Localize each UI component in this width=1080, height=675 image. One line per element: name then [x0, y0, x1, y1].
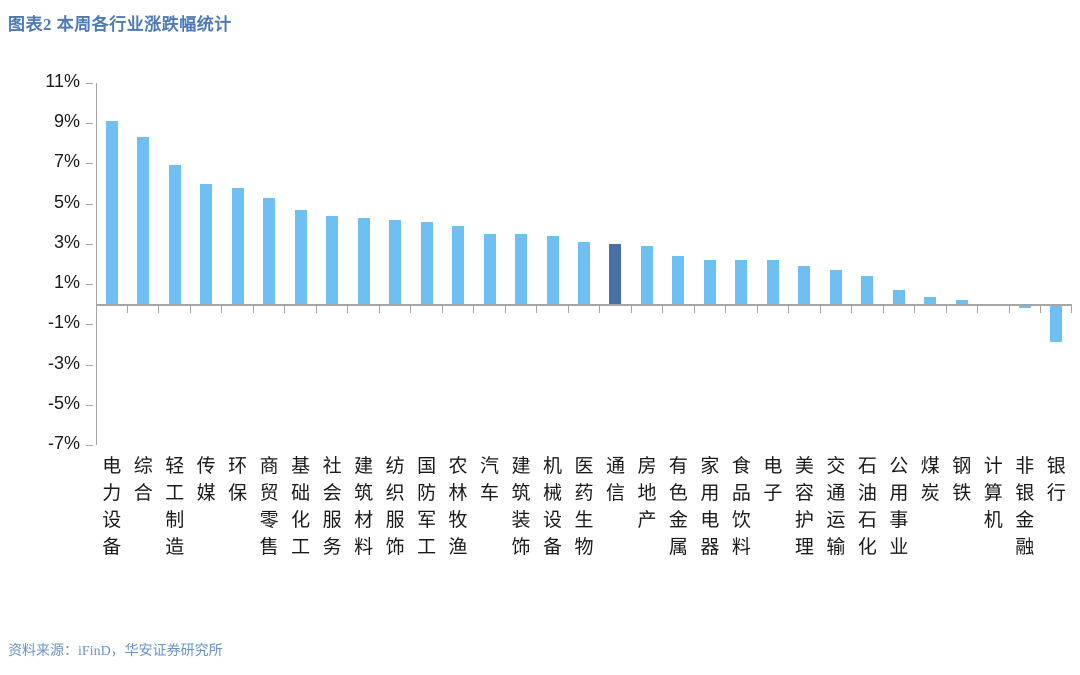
bar-slot[interactable] — [379, 83, 410, 445]
x-axis-label-char: 农 — [445, 453, 471, 480]
x-axis-label-char: 车 — [477, 480, 503, 507]
x-axis-label: 轻工制造 — [162, 453, 188, 561]
x-axis-label: 美容护理 — [791, 453, 817, 561]
x-axis-label: 通信 — [602, 453, 628, 507]
bar[interactable] — [767, 260, 779, 304]
x-axis-label-char: 造 — [162, 534, 188, 561]
x-axis-label-char: 合 — [130, 480, 156, 507]
x-axis-label-char: 食 — [728, 453, 754, 480]
x-axis-label-char: 机 — [540, 453, 566, 480]
bar[interactable] — [704, 260, 716, 304]
x-axis-label-char: 电 — [99, 453, 125, 480]
y-axis-tick-mark — [86, 83, 93, 84]
bar-slot[interactable] — [316, 83, 347, 445]
x-axis-label: 社会服务 — [319, 453, 345, 561]
bar-slot[interactable] — [253, 83, 284, 445]
x-axis-label-char: 材 — [351, 507, 377, 534]
bar[interactable] — [137, 137, 149, 304]
bar-slot[interactable] — [915, 83, 946, 445]
x-axis-label-char: 工 — [162, 480, 188, 507]
x-axis-label-char: 石 — [854, 507, 880, 534]
y-axis-tick-mark — [86, 244, 93, 245]
x-axis-label: 钢铁 — [949, 453, 975, 507]
bar-slot[interactable] — [537, 83, 568, 445]
x-axis-label-char: 工 — [414, 534, 440, 561]
x-axis-label-char: 炭 — [917, 480, 943, 507]
x-axis-label-char: 料 — [351, 534, 377, 561]
x-axis-label: 交通运输 — [823, 453, 849, 561]
bar-slot[interactable] — [1041, 83, 1072, 445]
bar-series — [96, 83, 1072, 445]
x-axis-label-char: 服 — [319, 507, 345, 534]
y-axis-tick-mark — [86, 284, 93, 285]
bar-slot[interactable] — [852, 83, 883, 445]
x-axis-label-char: 算 — [980, 480, 1006, 507]
x-axis-label-char: 国 — [414, 453, 440, 480]
x-axis-label-char: 军 — [414, 507, 440, 534]
x-axis-label-char: 油 — [854, 480, 880, 507]
source-note: 资料来源：iFinD，华安证券研究所 — [8, 640, 223, 660]
bar[interactable] — [893, 290, 905, 304]
x-axis-label-char: 金 — [1012, 507, 1038, 534]
x-axis-label-char: 属 — [665, 534, 691, 561]
x-axis-label-char: 交 — [823, 453, 849, 480]
x-axis-label-char: 工 — [288, 534, 314, 561]
x-axis-label-char: 筑 — [508, 480, 534, 507]
x-axis-label-char: 药 — [571, 480, 597, 507]
bar-slot[interactable] — [127, 83, 158, 445]
x-axis-label-char: 饰 — [508, 534, 534, 561]
x-axis-label: 电力设备 — [99, 453, 125, 561]
x-axis-label: 非银金融 — [1012, 453, 1038, 561]
x-axis-label-char: 行 — [1043, 480, 1069, 507]
bar-slot[interactable] — [190, 83, 221, 445]
x-axis-label-char: 媒 — [193, 480, 219, 507]
bar[interactable] — [452, 226, 464, 304]
x-axis-label-char: 事 — [886, 507, 912, 534]
bar-slot[interactable] — [757, 83, 788, 445]
x-axis-label-char: 装 — [508, 507, 534, 534]
x-axis-label: 有色金属 — [665, 453, 691, 561]
y-axis-tick-mark — [86, 445, 93, 446]
x-axis-label-char: 料 — [728, 534, 754, 561]
bar-slot[interactable] — [663, 83, 694, 445]
bar[interactable] — [358, 218, 370, 304]
x-axis-label: 建筑装饰 — [508, 453, 534, 561]
x-axis-label-char: 信 — [602, 480, 628, 507]
bar[interactable] — [609, 244, 621, 304]
x-axis-label-char: 色 — [665, 480, 691, 507]
bar-slot[interactable] — [348, 83, 379, 445]
x-axis-label-char: 建 — [351, 453, 377, 480]
x-axis-label-char: 美 — [791, 453, 817, 480]
x-axis-label-char: 综 — [130, 453, 156, 480]
bar[interactable] — [830, 270, 842, 304]
x-axis-label-char: 家 — [697, 453, 723, 480]
x-axis-label-char: 铁 — [949, 480, 975, 507]
bar-slot[interactable] — [568, 83, 599, 445]
zero-baseline — [96, 304, 1072, 306]
y-axis-tick-label: -1% — [48, 312, 80, 333]
x-axis-label: 纺织服饰 — [382, 453, 408, 561]
x-axis-label-char: 护 — [791, 507, 817, 534]
bar-slot[interactable] — [789, 83, 820, 445]
x-axis-label-char: 备 — [99, 534, 125, 561]
x-axis-label-char: 渔 — [445, 534, 471, 561]
bar[interactable] — [861, 276, 873, 304]
x-axis-label-char: 电 — [760, 453, 786, 480]
x-axis-label-char: 地 — [634, 480, 660, 507]
x-axis-label: 公用事业 — [886, 453, 912, 561]
bar-slot[interactable] — [505, 83, 536, 445]
x-axis-label-char: 子 — [760, 480, 786, 507]
x-axis-label-char: 保 — [225, 480, 251, 507]
x-axis-label-char: 设 — [540, 507, 566, 534]
x-axis-label-char: 设 — [99, 507, 125, 534]
x-axis-label-char: 纺 — [382, 453, 408, 480]
plot-area — [96, 83, 1072, 445]
x-axis-label-char: 医 — [571, 453, 597, 480]
bar[interactable] — [295, 210, 307, 305]
x-axis-label: 环保 — [225, 453, 251, 507]
bar-slot[interactable] — [820, 83, 851, 445]
y-axis-tick-label: 11% — [45, 71, 80, 92]
x-axis-label-char: 饰 — [382, 534, 408, 561]
x-axis-label-char: 用 — [697, 480, 723, 507]
x-axis-label-char: 电 — [697, 507, 723, 534]
x-axis-label: 建筑材料 — [351, 453, 377, 561]
y-axis-tick-mark — [86, 163, 93, 164]
x-axis-label-char: 业 — [886, 534, 912, 561]
x-axis-label: 综合 — [130, 453, 156, 507]
x-axis-label-char: 轻 — [162, 453, 188, 480]
y-axis-tick-label: 5% — [54, 192, 80, 213]
x-axis-label-char: 传 — [193, 453, 219, 480]
bar[interactable] — [263, 198, 275, 305]
x-axis-label: 食品饮料 — [728, 453, 754, 561]
x-axis-label-char: 物 — [571, 534, 597, 561]
bar-slot[interactable] — [883, 83, 914, 445]
bar-slot[interactable] — [978, 83, 1009, 445]
x-axis-label-char: 饮 — [728, 507, 754, 534]
x-axis-label-char: 银 — [1043, 453, 1069, 480]
x-axis-label-char: 商 — [256, 453, 282, 480]
x-axis-label-char: 械 — [540, 480, 566, 507]
x-axis-label-char: 力 — [99, 480, 125, 507]
x-axis-label-char: 产 — [634, 507, 660, 534]
y-axis-tick-label: -7% — [48, 433, 80, 454]
x-axis-label-char: 用 — [886, 480, 912, 507]
y-axis-tick-mark — [86, 365, 93, 366]
y-axis-tick-label: -5% — [48, 393, 80, 414]
x-axis-label-char: 石 — [854, 453, 880, 480]
x-axis-label: 银行 — [1043, 453, 1069, 507]
x-axis-label-char: 基 — [288, 453, 314, 480]
x-axis-label: 农林牧渔 — [445, 453, 471, 561]
bar-slot[interactable] — [159, 83, 190, 445]
bar-slot[interactable] — [600, 83, 631, 445]
x-axis-label-char: 社 — [319, 453, 345, 480]
bar-chart: 11%9%7%5%3%1%-1%-3%-5%-7% 电力设备综合轻工制造传媒环保… — [0, 55, 1080, 625]
x-axis-label-char: 售 — [256, 534, 282, 561]
bar-slot[interactable] — [946, 83, 977, 445]
x-axis-label: 传媒 — [193, 453, 219, 507]
bar-slot[interactable] — [442, 83, 473, 445]
page-title: 图表2 本周各行业涨跌幅统计 — [8, 10, 232, 35]
bar[interactable] — [578, 242, 590, 304]
x-axis-label-char: 林 — [445, 480, 471, 507]
x-axis-tick-mark — [1071, 306, 1072, 313]
x-axis-label-char: 汽 — [477, 453, 503, 480]
x-axis-label-char: 制 — [162, 507, 188, 534]
bar-slot[interactable] — [474, 83, 505, 445]
bar[interactable] — [672, 256, 684, 304]
x-axis-label-char: 通 — [602, 453, 628, 480]
x-axis-label-char: 公 — [886, 453, 912, 480]
x-axis-label-char: 融 — [1012, 534, 1038, 561]
x-axis-label: 机械设备 — [540, 453, 566, 561]
x-axis-label: 医药生物 — [571, 453, 597, 561]
bar[interactable] — [484, 234, 496, 304]
bar[interactable] — [421, 222, 433, 304]
x-axis-label-char: 房 — [634, 453, 660, 480]
bar-slot[interactable] — [411, 83, 442, 445]
x-axis-label-char: 环 — [225, 453, 251, 480]
y-axis-tick-mark — [86, 405, 93, 406]
x-axis-label-char: 防 — [414, 480, 440, 507]
y-axis-tick-label: 7% — [54, 151, 80, 172]
bar[interactable] — [515, 234, 527, 304]
x-axis-label-char: 服 — [382, 507, 408, 534]
x-axis-label: 基础化工 — [288, 453, 314, 561]
x-axis-label-char: 牧 — [445, 507, 471, 534]
bar-slot[interactable] — [631, 83, 662, 445]
y-axis-tick-mark — [86, 204, 93, 205]
x-axis-label: 计算机 — [980, 453, 1006, 534]
bar[interactable] — [641, 246, 653, 304]
bar[interactable] — [326, 216, 338, 304]
x-axis-label-char: 会 — [319, 480, 345, 507]
x-axis-label-char: 零 — [256, 507, 282, 534]
bar-slot[interactable] — [222, 83, 253, 445]
x-axis-label: 汽车 — [477, 453, 503, 507]
x-axis-label-char: 运 — [823, 507, 849, 534]
y-axis-tick-label: -3% — [48, 353, 80, 374]
x-axis-label: 煤炭 — [917, 453, 943, 507]
x-axis-label-char: 煤 — [917, 453, 943, 480]
x-axis-label-char: 织 — [382, 480, 408, 507]
x-axis-label-char: 非 — [1012, 453, 1038, 480]
x-axis-label-char: 银 — [1012, 480, 1038, 507]
x-axis-label-char: 建 — [508, 453, 534, 480]
y-axis-tick-mark — [86, 324, 93, 325]
x-axis-label-char: 筑 — [351, 480, 377, 507]
x-axis-label-char: 金 — [665, 507, 691, 534]
y-axis-tick-label: 1% — [54, 272, 80, 293]
x-axis-label-char: 容 — [791, 480, 817, 507]
x-axis-label-char: 钢 — [949, 453, 975, 480]
bar-slot[interactable] — [726, 83, 757, 445]
bar[interactable] — [232, 188, 244, 305]
bar-slot[interactable] — [1009, 83, 1040, 445]
bar[interactable] — [389, 220, 401, 304]
x-axis-label-char: 计 — [980, 453, 1006, 480]
bar-slot[interactable] — [694, 83, 725, 445]
x-axis-label-char: 品 — [728, 480, 754, 507]
bar[interactable] — [547, 236, 559, 304]
x-axis-label-char: 备 — [540, 534, 566, 561]
bar[interactable] — [798, 266, 810, 304]
x-axis-label: 石油石化 — [854, 453, 880, 561]
y-axis-tick-label: 9% — [54, 111, 80, 132]
x-axis-label-char: 础 — [288, 480, 314, 507]
x-axis-label: 房地产 — [634, 453, 660, 534]
x-axis-label: 电子 — [760, 453, 786, 507]
x-axis-label-char: 生 — [571, 507, 597, 534]
x-axis-label: 家用电器 — [697, 453, 723, 561]
x-axis-label-char: 有 — [665, 453, 691, 480]
x-axis-labels: 电力设备综合轻工制造传媒环保商贸零售基础化工社会服务建筑材料纺织服饰国防军工农林… — [96, 453, 1072, 613]
x-axis-label-char: 贸 — [256, 480, 282, 507]
bar[interactable] — [200, 184, 212, 305]
x-axis-label-char: 理 — [791, 534, 817, 561]
bar-slot[interactable] — [96, 83, 127, 445]
x-axis-label-char: 机 — [980, 507, 1006, 534]
bar[interactable] — [169, 165, 181, 304]
bar[interactable] — [106, 121, 118, 304]
bar[interactable] — [735, 260, 747, 304]
x-axis-label: 国防军工 — [414, 453, 440, 561]
x-axis-label-char: 务 — [319, 534, 345, 561]
x-axis-label-char: 通 — [823, 480, 849, 507]
x-axis-label-char: 输 — [823, 534, 849, 561]
bar[interactable] — [1050, 304, 1062, 342]
x-axis-label-char: 化 — [854, 534, 880, 561]
x-axis-label-char: 化 — [288, 507, 314, 534]
bar[interactable] — [924, 297, 936, 304]
x-axis-label-char: 器 — [697, 534, 723, 561]
bar-slot[interactable] — [285, 83, 316, 445]
x-axis-label: 商贸零售 — [256, 453, 282, 561]
y-axis-tick-mark — [86, 123, 93, 124]
y-axis-tick-label: 3% — [54, 232, 80, 253]
